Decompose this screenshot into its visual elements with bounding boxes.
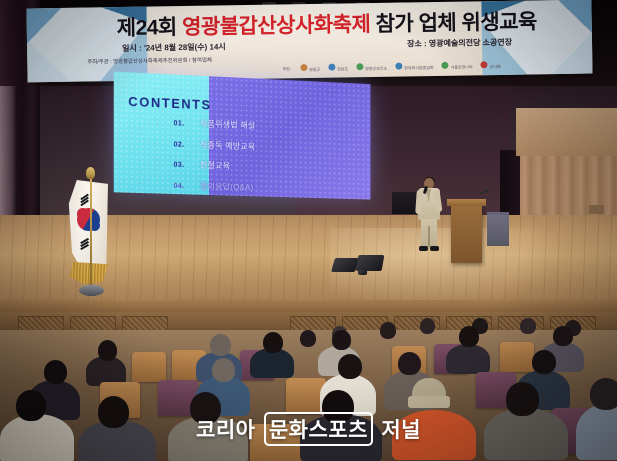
audience-head <box>590 378 617 410</box>
flag-pole <box>90 172 92 290</box>
list-item: 03. 친절교육 <box>174 159 256 173</box>
audience-cap-brim <box>408 396 450 408</box>
list-item-label: 식품위생법 해설 <box>200 118 255 131</box>
sponsor-logo: 식품안전나라 <box>442 61 473 70</box>
slide-contents-list: 01. 식품위생법 해설 02. 식중독 예방교육 03. 친절교육 04. 질… <box>174 117 256 202</box>
banner-title-highlight: 영광불갑산상사화축제 <box>182 13 371 39</box>
audience-head <box>263 332 283 353</box>
banner-title: 제24회 영광불갑산상사화축제 참가 업체 위생교육 <box>117 6 517 42</box>
audience-head <box>532 350 556 374</box>
audience-head <box>553 326 573 346</box>
wall-fixture <box>589 205 604 214</box>
grand-piano <box>392 192 418 214</box>
audience-head <box>210 334 231 356</box>
stage-monitor-speaker <box>331 258 359 272</box>
flag-stand-base <box>79 285 104 296</box>
presenter-leg-gap <box>428 226 430 247</box>
watermark-part3: 저널 <box>381 419 421 442</box>
sponsor-logo: 한국외식업중앙회 <box>395 62 434 72</box>
list-item-label: 질의응답(Q&A) <box>200 180 254 193</box>
banner-title-suffix: 참가 업체 위생교육 <box>375 10 537 36</box>
stage-monitor-speaker <box>356 255 385 271</box>
audience-head <box>420 318 435 334</box>
presenter-figure <box>416 178 442 252</box>
audience-head <box>332 330 351 350</box>
banner-title-prefix: 제24회 <box>117 16 177 40</box>
audience-head <box>506 382 539 416</box>
list-item-label: 친절교육 <box>200 159 230 171</box>
presenter-shoe <box>419 246 428 251</box>
audience-head <box>44 360 67 384</box>
watermark-part1: 코리아 <box>196 419 255 442</box>
sponsor-logo: 영광군보건소 <box>356 63 387 72</box>
list-item-number: 04. <box>174 182 200 190</box>
auditorium-seat <box>500 342 534 372</box>
sponsor-logo: 영광군 <box>300 64 320 73</box>
audience-head <box>98 340 117 361</box>
list-item: 04. 질의응답(Q&A) <box>174 179 256 193</box>
lectern-podium <box>451 203 482 263</box>
projection-screen: CONTENTS 01. 식품위생법 해설 02. 식중독 예방교육 03. 친… <box>114 72 371 200</box>
audience-head <box>398 352 421 375</box>
stage-chair <box>487 212 509 246</box>
audience-head <box>459 326 479 347</box>
banner-date: 일시 : '24년 8월 28일(수) 14시 <box>122 41 226 54</box>
photo-canvas: 제24회 영광불갑산상사화축제 참가 업체 위생교육 일시 : '24년 8월 … <box>0 0 617 461</box>
audience-head <box>380 322 396 339</box>
list-item: 02. 식중독 예방교육 <box>174 138 256 152</box>
audience-head <box>338 354 362 379</box>
wood-panel-header <box>516 108 617 156</box>
list-item-label: 식중독 예방교육 <box>200 139 255 152</box>
sponsor-logo: 상사화 <box>481 61 501 70</box>
taeguk-red-half <box>77 208 89 220</box>
flag-pole-finial-icon <box>86 167 95 179</box>
audience-head <box>212 358 235 382</box>
banner-sponsor-label: 후원 : <box>282 66 292 72</box>
list-item-number: 02. <box>174 141 200 149</box>
watermark: 코리아 문화스포츠 저널 <box>0 412 617 446</box>
sponsor-logo: 전남도 <box>328 63 348 72</box>
event-banner: 제24회 영광불갑산상사화축제 참가 업체 위생교육 일시 : '24년 8월 … <box>26 0 592 82</box>
audience-shoulders <box>446 344 490 374</box>
presenter-shoe <box>430 246 439 251</box>
watermark-part2: 문화스포츠 <box>264 412 373 446</box>
list-item: 01. 식품위생법 해설 <box>174 117 256 131</box>
audience-head <box>520 318 536 334</box>
audience-head <box>300 330 316 347</box>
monitor-stand <box>358 270 367 275</box>
lectern-top <box>447 199 486 206</box>
banner-host: 주최/주관 : 영광불갑산상사화축제추진위원회 / 참여업체 <box>87 56 212 66</box>
list-item-number: 01. <box>174 120 200 128</box>
list-item-number: 03. <box>174 162 200 170</box>
auditorium-seat <box>132 352 166 382</box>
banner-place: 장소 : 영광예술의전당 소공연장 <box>407 37 512 50</box>
